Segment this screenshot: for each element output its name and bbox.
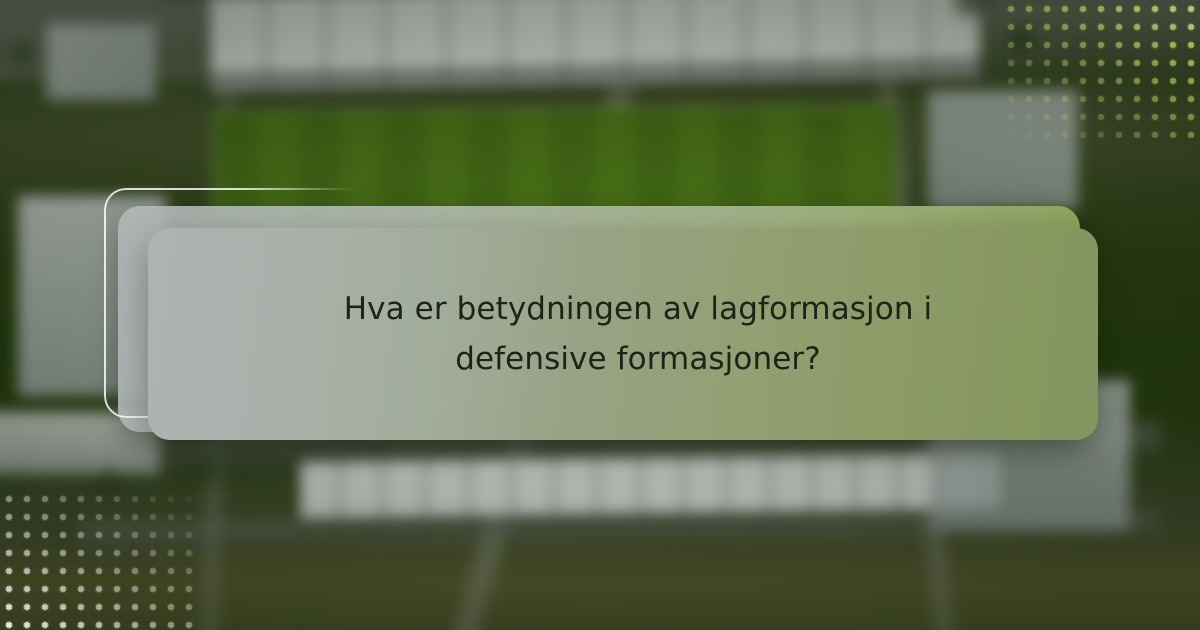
question-line-2: defensive formasjoner?	[258, 334, 1018, 384]
question-card: Hva er betydningen av lagformasjon i def…	[148, 228, 1098, 440]
slide-canvas: Hva er betydningen av lagformasjon i def…	[0, 0, 1200, 630]
question-card-stack: Hva er betydningen av lagformasjon i def…	[104, 188, 1100, 444]
question-text: Hva er betydningen av lagformasjon i def…	[228, 284, 1018, 384]
question-line-1: Hva er betydningen av lagformasjon i	[258, 284, 1018, 334]
